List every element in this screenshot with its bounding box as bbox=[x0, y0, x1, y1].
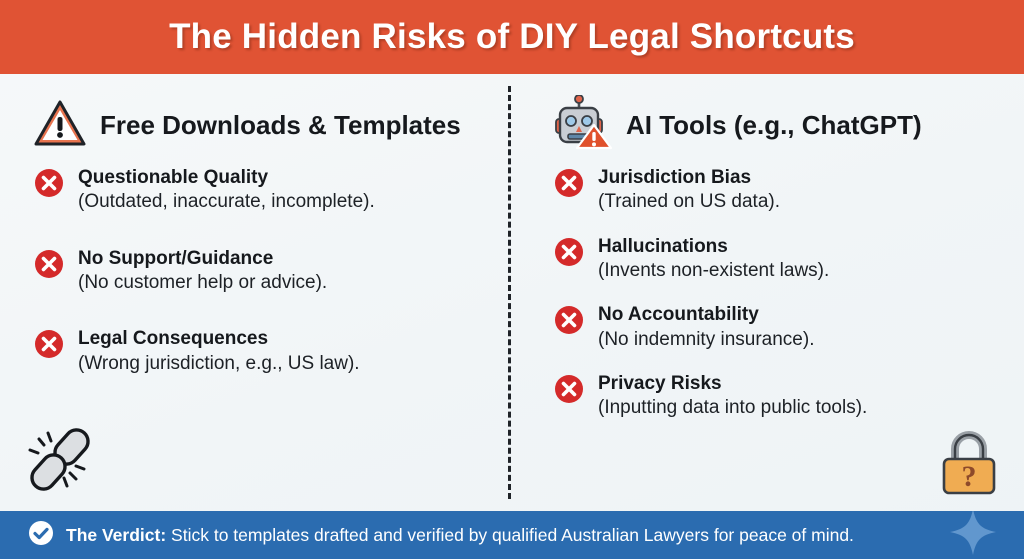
risk-title: No Accountability bbox=[598, 303, 814, 327]
risk-text: Hallucinations (Invents non-existent law… bbox=[598, 235, 829, 284]
risk-title: Privacy Risks bbox=[598, 372, 867, 396]
x-circle-icon bbox=[554, 168, 584, 198]
x-circle-icon bbox=[34, 168, 64, 198]
risk-description: (Wrong jurisdiction, e.g., US law). bbox=[78, 352, 360, 376]
verdict-message: Stick to templates drafted and verified … bbox=[171, 525, 854, 545]
broken-chain-icon bbox=[18, 420, 102, 503]
warning-triangle-icon bbox=[34, 99, 86, 152]
risk-title: Legal Consequences bbox=[78, 327, 360, 351]
verdict-text: The Verdict: Stick to templates drafted … bbox=[66, 525, 854, 546]
risk-text: No Support/Guidance (No customer help or… bbox=[78, 247, 327, 296]
verdict-label: The Verdict: bbox=[66, 525, 166, 545]
infographic-root: The Hidden Risks of DIY Legal Shortcuts … bbox=[0, 0, 1024, 559]
column-heading-label: AI Tools (e.g., ChatGPT) bbox=[626, 110, 922, 141]
column-free-downloads: Free Downloads & Templates Questionable … bbox=[0, 74, 512, 511]
x-circle-icon bbox=[34, 249, 64, 279]
risk-title: No Support/Guidance bbox=[78, 247, 327, 271]
header-bar: The Hidden Risks of DIY Legal Shortcuts bbox=[0, 0, 1024, 74]
risk-title: Hallucinations bbox=[598, 235, 829, 259]
column-heading-ai-tools: AI Tools (e.g., ChatGPT) bbox=[554, 96, 1006, 154]
risk-item: Hallucinations (Invents non-existent law… bbox=[554, 235, 1006, 284]
risk-description: (Invents non-existent laws). bbox=[598, 259, 829, 283]
risk-item: Jurisdiction Bias (Trained on US data). bbox=[554, 166, 1006, 215]
risk-description: (Inputting data into public tools). bbox=[598, 396, 867, 420]
risk-list-ai-tools: Jurisdiction Bias (Trained on US data). … bbox=[554, 166, 1006, 421]
x-circle-icon bbox=[554, 374, 584, 404]
risk-item: No Support/Guidance (No customer help or… bbox=[34, 247, 494, 296]
risk-description: (Trained on US data). bbox=[598, 190, 780, 214]
content-area: Free Downloads & Templates Questionable … bbox=[0, 74, 1024, 511]
risk-description: (No indemnity insurance). bbox=[598, 328, 814, 352]
risk-text: Jurisdiction Bias (Trained on US data). bbox=[598, 166, 780, 215]
risk-item: Legal Consequences (Wrong jurisdiction, … bbox=[34, 327, 494, 376]
column-ai-tools: AI Tools (e.g., ChatGPT) Jurisdiction Bi… bbox=[512, 74, 1024, 511]
check-circle-icon bbox=[28, 520, 54, 551]
page-title: The Hidden Risks of DIY Legal Shortcuts bbox=[169, 17, 855, 57]
sparkle-icon bbox=[944, 511, 1002, 559]
x-circle-icon bbox=[554, 237, 584, 267]
risk-item: Privacy Risks (Inputting data into publi… bbox=[554, 372, 1006, 421]
question-lock-icon: ? bbox=[938, 428, 1000, 501]
column-heading-label: Free Downloads & Templates bbox=[100, 110, 461, 141]
risk-text: Privacy Risks (Inputting data into publi… bbox=[598, 372, 867, 421]
verdict-bar: The Verdict: Stick to templates drafted … bbox=[0, 511, 1024, 559]
risk-text: No Accountability (No indemnity insuranc… bbox=[598, 303, 814, 352]
risk-item: No Accountability (No indemnity insuranc… bbox=[554, 303, 1006, 352]
risk-item: Questionable Quality (Outdated, inaccura… bbox=[34, 166, 494, 215]
risk-description: (Outdated, inaccurate, incomplete). bbox=[78, 190, 375, 214]
column-heading-free-downloads: Free Downloads & Templates bbox=[34, 96, 494, 154]
x-circle-icon bbox=[34, 329, 64, 359]
risk-text: Legal Consequences (Wrong jurisdiction, … bbox=[78, 327, 360, 376]
robot-warning-icon bbox=[554, 95, 612, 156]
risk-list-free-downloads: Questionable Quality (Outdated, inaccura… bbox=[34, 166, 494, 376]
risk-description: (No customer help or advice). bbox=[78, 271, 327, 295]
x-circle-icon bbox=[554, 305, 584, 335]
risk-title: Questionable Quality bbox=[78, 166, 375, 190]
risk-text: Questionable Quality (Outdated, inaccura… bbox=[78, 166, 375, 215]
risk-title: Jurisdiction Bias bbox=[598, 166, 780, 190]
svg-text:?: ? bbox=[962, 460, 977, 493]
